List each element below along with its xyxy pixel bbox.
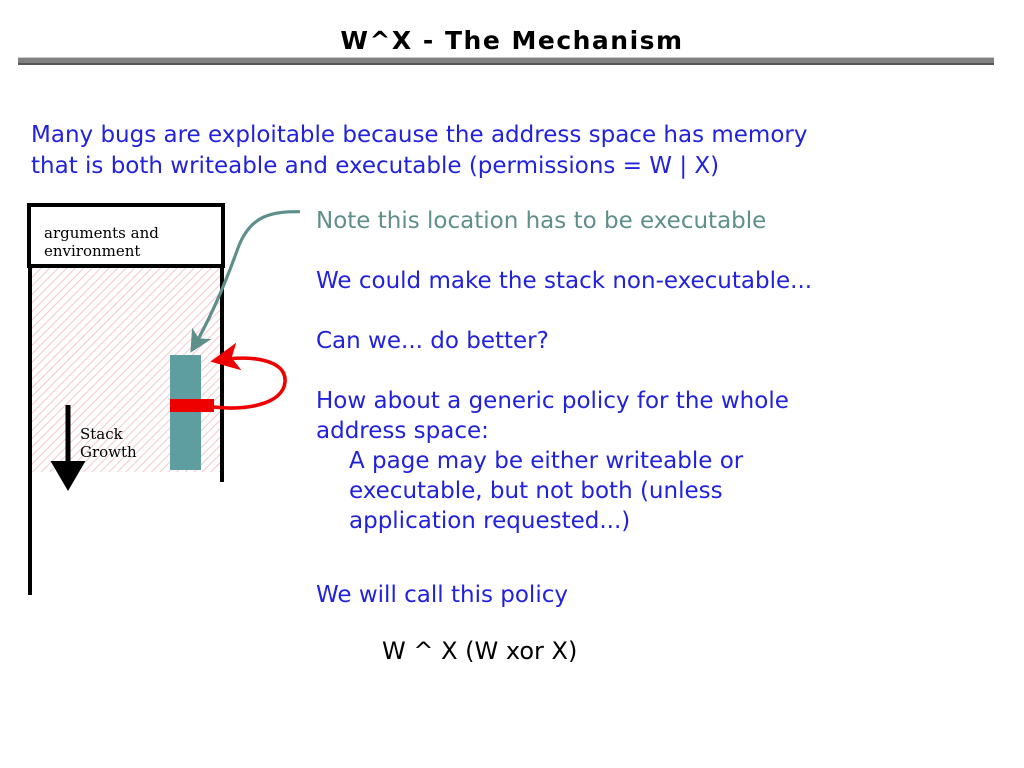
w-xor-x-line: W ^ X (W xor X) — [382, 636, 1006, 666]
body-text-block: Note this location has to be executable … — [316, 206, 1006, 666]
spacer — [316, 536, 1006, 580]
spacer — [316, 296, 1006, 326]
spacer — [316, 610, 1006, 636]
spacer — [316, 356, 1006, 386]
call-this-policy-line: We will call this policy — [316, 580, 1006, 610]
non-executable-stack-line: We could make the stack non-executable..… — [316, 266, 1006, 296]
note-executable-line: Note this location has to be executable — [316, 206, 1006, 236]
stack-growth-label: Stack Growth — [80, 425, 137, 461]
page-title: W^X - The Mechanism — [0, 26, 1024, 55]
spacer — [316, 236, 1006, 266]
generic-policy-line: How about a generic policy for the whole… — [316, 386, 1006, 446]
can-we-do-better-line: Can we... do better? — [316, 326, 1006, 356]
intro-paragraph: Many bugs are exploitable because the ad… — [31, 120, 941, 182]
generic-policy-sub-line: A page may be either writeable or execut… — [349, 446, 1006, 536]
memory-layout-diagram: arguments and environment Stack Growth — [0, 190, 300, 610]
title-divider — [18, 57, 994, 65]
arguments-environment-label: arguments and environment — [44, 224, 159, 260]
stack-frame-block — [170, 355, 201, 470]
